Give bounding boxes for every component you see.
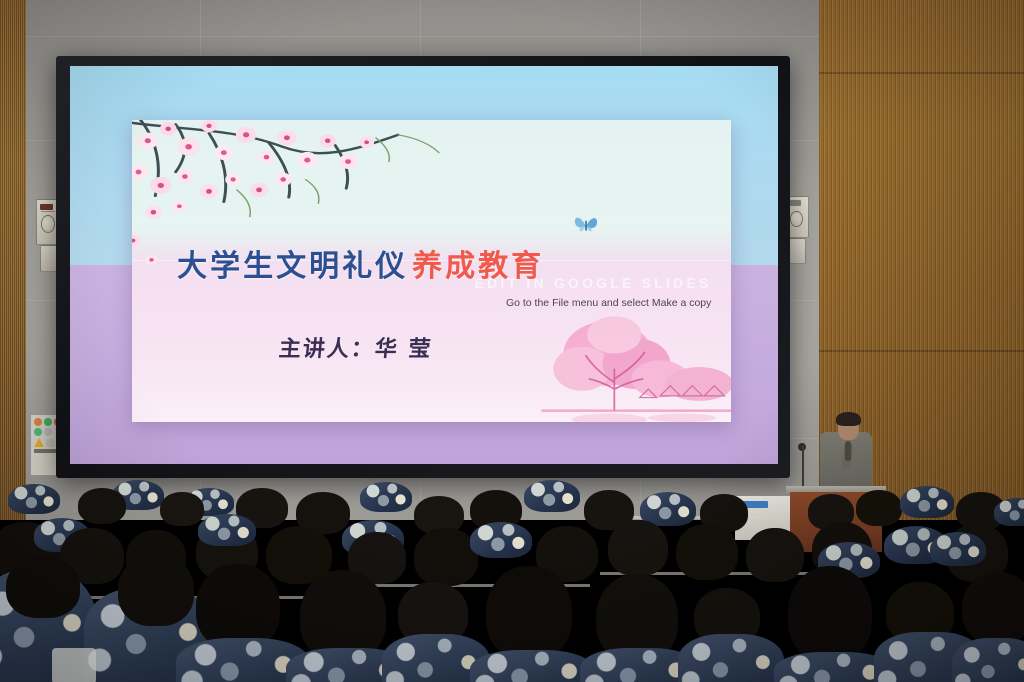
wood-panel-wall-left [0,0,26,520]
volume-knob-icon[interactable] [790,211,802,227]
student-head [788,566,872,662]
first-aid-icon [34,428,42,436]
uniform-cap [524,480,580,512]
audience [0,470,1024,682]
uniform-cap [930,532,986,566]
student-head [608,520,668,576]
student-uniform [678,634,784,682]
uniform-cap [470,522,532,558]
indicator-led [40,204,52,210]
cherry-tree-watercolor-icon [533,301,730,422]
uniform-cap [360,482,412,512]
student-uniform [952,638,1024,682]
white-bag [52,648,96,682]
indicator-led [790,200,801,206]
student-head [6,556,80,618]
warning-icon [34,418,42,426]
presenter-hair [836,412,861,426]
lecture-hall-scene: 大学生文明礼仪养成教育 EDIT IN GOOGLE SLIDES Go to … [0,0,1024,682]
volume-knob-icon[interactable] [41,215,55,233]
handheld-microphone-icon [845,441,851,461]
extinguisher-icon [46,439,54,447]
uniform-cap [198,514,256,546]
uniform-cap [994,498,1024,526]
student-head [676,524,738,580]
student-head [118,554,194,626]
uniform-cap [900,486,954,518]
slide-content-card: 大学生文明礼仪养成教育 EDIT IN GOOGLE SLIDES Go to … [132,120,730,422]
student-head [486,566,572,660]
presenter-name: 主讲人：华 莹 [277,331,433,363]
uniform-cap [8,484,60,514]
student-head [962,572,1024,644]
student-head [160,492,204,526]
projector-screen-frame: 大学生文明礼仪养成教育 EDIT IN GOOGLE SLIDES Go to … [56,56,790,478]
info-icon [44,428,52,436]
blue-butterfly-icon [573,213,599,235]
student-head [78,488,126,524]
projection-surface: 大学生文明礼仪养成教育 EDIT IN GOOGLE SLIDES Go to … [70,66,778,464]
hazard-triangle-icon [34,438,44,447]
wall-outlet-right[interactable] [789,238,806,264]
student-head [414,528,478,586]
exit-icon [44,418,52,426]
student-head [746,528,804,582]
student-uniform [470,650,594,682]
student-head [856,490,902,526]
watermark-text: EDIT IN GOOGLE SLIDES [475,275,712,291]
title-primary: 大学生文明礼仪 [177,249,408,284]
